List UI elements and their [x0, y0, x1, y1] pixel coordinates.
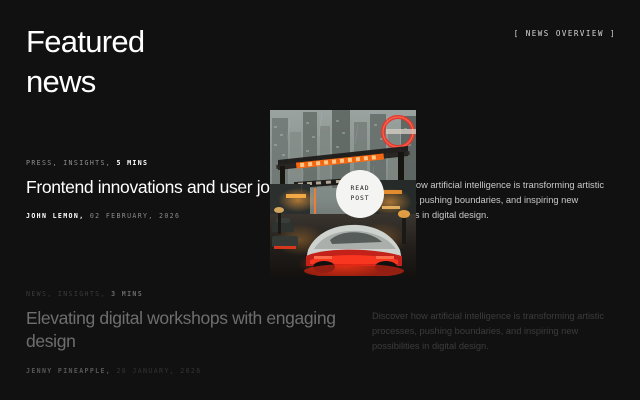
article-date: 02 FEBRUARY, 2026 [90, 212, 180, 220]
article-read-time: 3 MINS [111, 290, 143, 298]
featured-news-page: Featured news [ NEWS OVERVIEW ] PRESS, I… [0, 0, 640, 400]
article-description: Discover how artificial intelligence is … [372, 309, 612, 354]
news-overview-label[interactable]: [ NEWS OVERVIEW ] [514, 29, 616, 38]
article-author: JENNY PINEAPPLE, [26, 367, 111, 375]
read-post-button[interactable]: READ POST [336, 170, 384, 218]
article-meta: NEWS, INSIGHTS, 3 MINS [26, 290, 614, 298]
article-byline: JENNY PINEAPPLE, 28 JANUARY, 2026 [26, 367, 614, 375]
article-read-time: 5 MINS [116, 159, 148, 167]
article-author: JOHN LEMON, [26, 212, 85, 220]
article-categories: PRESS, INSIGHTS, [26, 159, 111, 167]
page-header: Featured news [0, 0, 640, 101]
article-categories: NEWS, INSIGHTS, [26, 290, 106, 298]
page-title-line-1: Featured [26, 24, 144, 59]
page-title: Featured news [26, 22, 326, 101]
article-row[interactable]: NEWS, INSIGHTS, 3 MINS Elevating digital… [0, 281, 640, 400]
read-post-label-line-1: READ [351, 184, 370, 194]
article-title[interactable]: Elevating digital workshops with engagin… [26, 307, 356, 354]
page-title-line-2: news [26, 64, 96, 99]
article-date: 28 JANUARY, 2026 [116, 367, 201, 375]
read-post-label-line-2: POST [351, 194, 370, 204]
